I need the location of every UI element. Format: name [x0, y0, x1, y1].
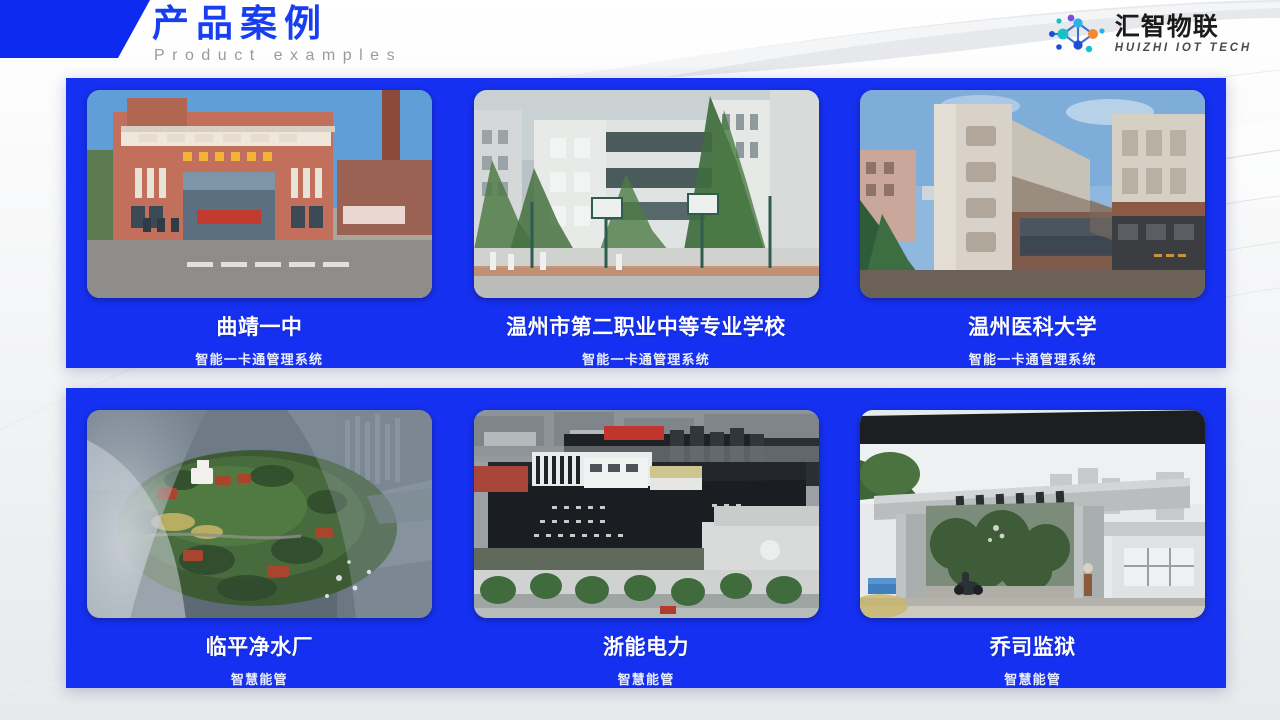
product-card[interactable]: 温州市第二职业中等专业学校 智能一卡通管理系统: [453, 78, 840, 368]
product-card[interactable]: 曲靖一中 智能一卡通管理系统: [66, 78, 453, 368]
product-card-title: 乔司监狱: [990, 631, 1076, 661]
product-photo-university-entrance-monument: [860, 90, 1205, 298]
product-photo-school-building-courtyard: [474, 90, 819, 298]
product-card-subtitle: 智能一卡通管理系统: [195, 349, 323, 368]
product-card-title: 曲靖一中: [216, 311, 302, 341]
product-card[interactable]: 浙能电力 智慧能管: [453, 388, 840, 688]
logo-name-en: HUIZHI IOT TECH: [1115, 41, 1252, 56]
brand-logo: 汇智物联 HUIZHI IOT TECH: [1047, 12, 1252, 56]
product-panel-bottom: 临平净水厂 智慧能管: [66, 388, 1226, 688]
product-card-title: 温州市第二职业中等专业学校: [506, 311, 786, 341]
product-card[interactable]: 乔司监狱 智慧能管: [839, 388, 1226, 688]
product-card[interactable]: 温州医科大学 智能一卡通管理系统: [839, 78, 1226, 368]
product-card-subtitle: 智慧能管: [231, 669, 288, 688]
page-header: 产品案例 Product examples 汇智物联: [0, 0, 1280, 78]
page-title: 产品案例: [152, 2, 402, 46]
product-photo-prison-gate: [860, 410, 1205, 618]
logo-name-cn: 汇智物联: [1115, 13, 1219, 40]
product-card-subtitle: 智能一卡通管理系统: [582, 349, 710, 368]
page-subtitle: Product examples: [152, 45, 402, 67]
product-card[interactable]: 临平净水厂 智慧能管: [66, 388, 453, 688]
product-card-title: 浙能电力: [603, 631, 689, 661]
product-card-subtitle: 智慧能管: [618, 669, 675, 688]
molecule-network-icon: [1047, 12, 1109, 56]
header-accent-shape: [0, 0, 150, 58]
product-photo-school-gate-red-brick: [87, 90, 432, 298]
product-card-title: 温州医科大学: [968, 311, 1097, 341]
product-panel-top: 曲靖一中 智能一卡通管理系统: [66, 78, 1226, 368]
product-photo-aerial-power-plant-dark: [474, 410, 819, 618]
product-photo-aerial-green-water-plant: [87, 410, 432, 618]
product-card-subtitle: 智能一卡通管理系统: [969, 349, 1097, 368]
product-card-subtitle: 智慧能管: [1004, 669, 1061, 688]
product-card-title: 临平净水厂: [206, 631, 314, 661]
header-title-group: 产品案例 Product examples: [152, 2, 402, 67]
